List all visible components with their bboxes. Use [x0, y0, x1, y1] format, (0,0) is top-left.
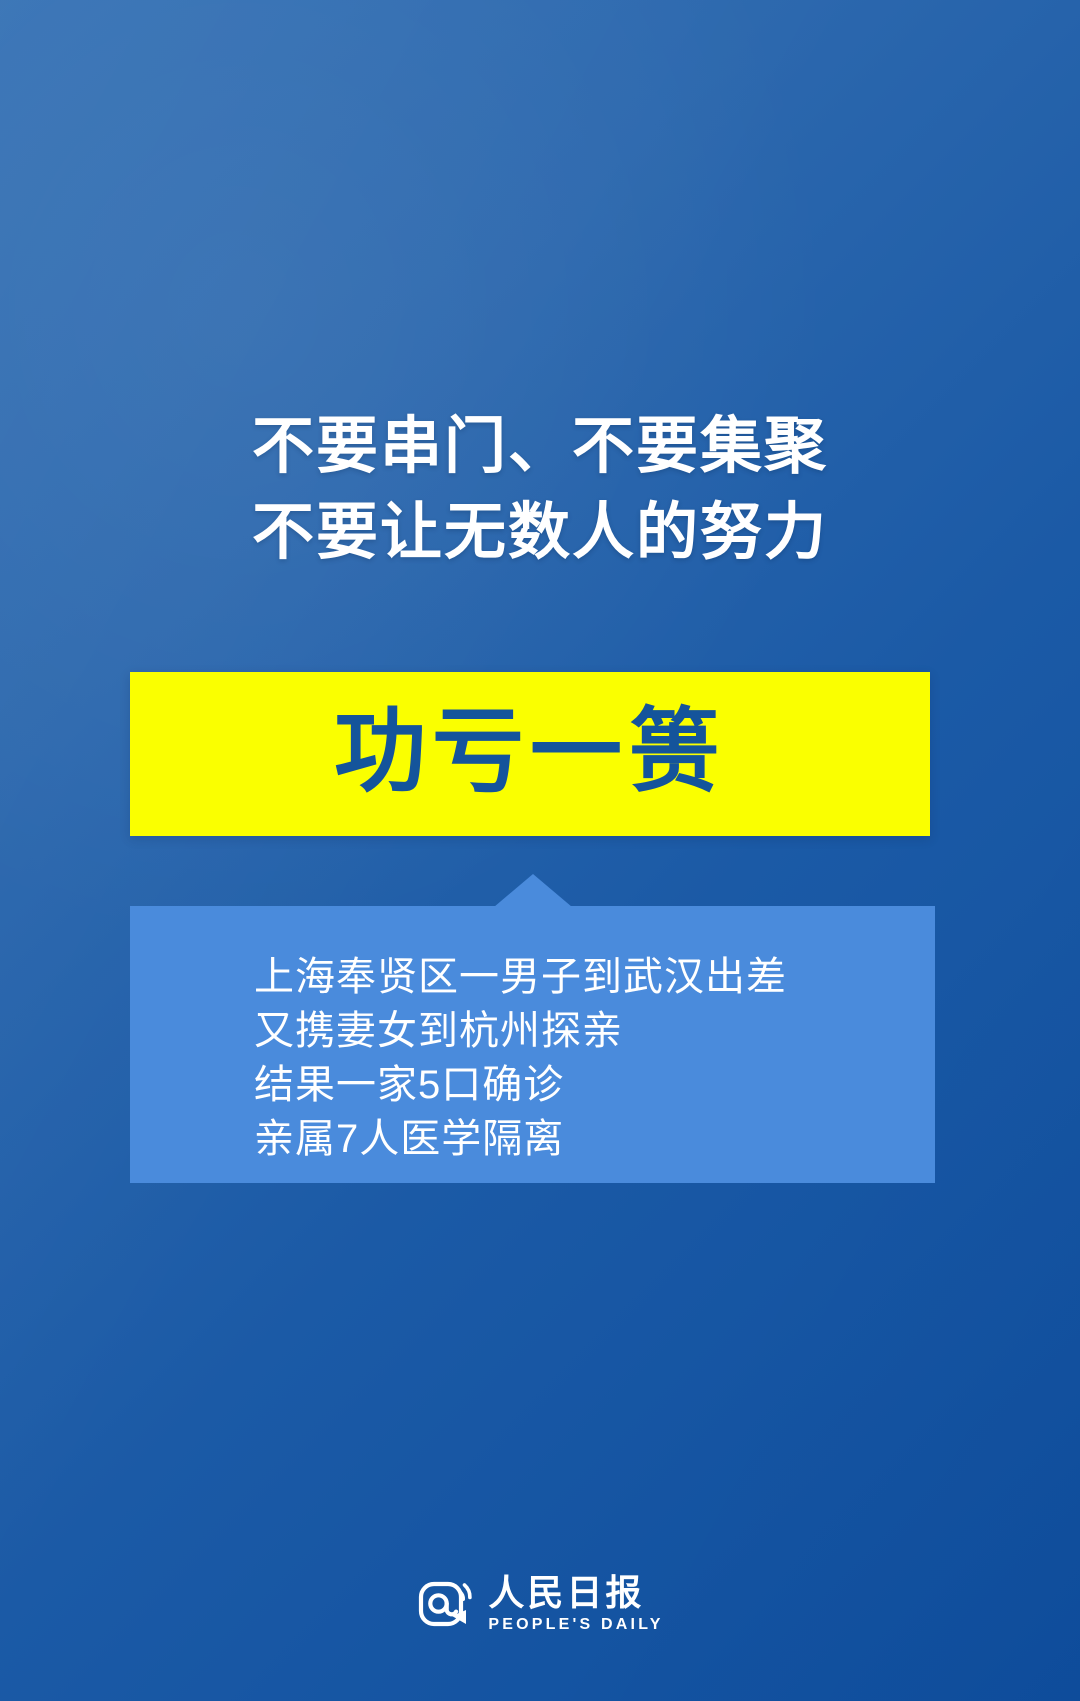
detail-list: 上海奉贤区一男子到武汉出差 又携妻女到杭州探亲 结果一家5口确诊 亲属7人医学隔… [254, 950, 787, 1166]
detail-line-3: 结果一家5口确诊 [254, 1058, 787, 1112]
emphasis-banner-text: 功亏一篑 [334, 704, 726, 800]
headline-line-2: 不要让无数人的努力 [0, 490, 1080, 576]
logo-wordmark: 人民日报 PEOPLE'S DAILY [488, 1574, 663, 1635]
footer-logo: 人民日报 PEOPLE'S DAILY [0, 1572, 1080, 1634]
background-sheen-radial [0, 0, 1080, 1701]
logo-brand-cn: 人民日报 [488, 1574, 644, 1612]
logo-brand-en: PEOPLE'S DAILY [488, 1615, 663, 1635]
emphasis-banner: 功亏一篑 [130, 672, 930, 836]
detail-box: 上海奉贤区一男子到武汉出差 又携妻女到杭州探亲 结果一家5口确诊 亲属7人医学隔… [130, 906, 935, 1183]
detail-line-2: 又携妻女到杭州探亲 [254, 1004, 787, 1058]
headline: 不要串门、不要集聚 不要让无数人的努力 [0, 404, 1080, 576]
detail-line-1: 上海奉贤区一男子到武汉出差 [254, 950, 787, 1004]
detail-line-4: 亲属7人医学隔离 [254, 1112, 787, 1166]
headline-line-1: 不要串门、不要集聚 [0, 404, 1080, 490]
callout-pointer-triangle [494, 874, 572, 907]
poster-canvas: 不要串门、不要集聚 不要让无数人的努力 功亏一篑 上海奉贤区一男子到武汉出差 又… [0, 0, 1080, 1701]
at-sign-signal-icon [416, 1572, 478, 1634]
background-sheen-diagonal [0, 0, 1080, 1701]
